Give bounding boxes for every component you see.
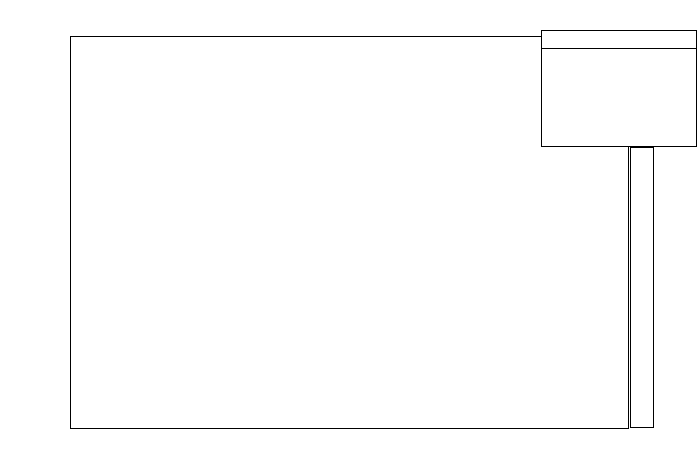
root-canvas — [0, 0, 698, 476]
color-scale-bar — [631, 148, 653, 427]
statistics-box[interactable] — [541, 30, 697, 147]
statistics-title — [542, 31, 696, 49]
color-scale-border — [630, 147, 654, 428]
